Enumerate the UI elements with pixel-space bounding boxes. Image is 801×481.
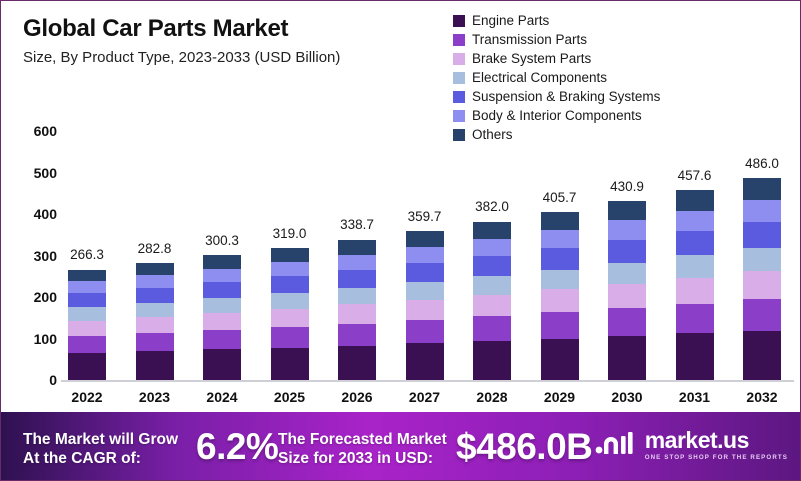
- bar-segment[interactable]: [608, 263, 646, 284]
- stacked-bar[interactable]: [338, 239, 376, 380]
- bar-segment[interactable]: [406, 247, 444, 263]
- chart-plot-area: 0100200300400500600266.32022282.82023300…: [1, 1, 801, 416]
- bar-segment[interactable]: [473, 316, 511, 341]
- x-axis-tick-label: 2027: [390, 389, 460, 405]
- bar-segment[interactable]: [271, 348, 309, 380]
- bar-value-label: 282.8: [120, 241, 190, 256]
- bar-segment[interactable]: [676, 255, 714, 277]
- bar-segment[interactable]: [743, 248, 781, 272]
- bar-segment[interactable]: [406, 231, 444, 247]
- bar-segment[interactable]: [676, 333, 714, 380]
- bar-value-label: 457.6: [660, 168, 730, 183]
- bar-segment[interactable]: [541, 289, 579, 312]
- forecast-caption-line2: Size for 2033 in USD:: [278, 449, 447, 468]
- chart-infographic: Global Car Parts Market Size, By Product…: [0, 0, 801, 481]
- bar-value-label: 338.7: [322, 217, 392, 232]
- bar-segment[interactable]: [743, 271, 781, 299]
- stacked-bar[interactable]: [473, 221, 511, 380]
- bar-segment[interactable]: [338, 304, 376, 323]
- logo-mark-icon: [595, 430, 637, 461]
- logo-name: market.us: [645, 429, 788, 452]
- bar-segment[interactable]: [271, 248, 309, 262]
- bar-segment[interactable]: [676, 190, 714, 210]
- x-axis-tick-label: 2022: [52, 389, 122, 405]
- stacked-bar[interactable]: [203, 255, 241, 380]
- y-axis-tick-label: 200: [11, 289, 57, 305]
- bar-value-label: 382.0: [457, 199, 527, 214]
- bar-value-label: 405.7: [525, 190, 595, 205]
- bar-segment[interactable]: [136, 351, 174, 380]
- bar-segment[interactable]: [541, 248, 579, 269]
- bar-segment[interactable]: [271, 309, 309, 327]
- y-axis-tick-label: 500: [11, 165, 57, 181]
- x-axis-tick-label: 2024: [187, 389, 257, 405]
- bar-segment[interactable]: [743, 299, 781, 331]
- bar-segment[interactable]: [68, 307, 106, 320]
- bar-segment[interactable]: [473, 256, 511, 276]
- bar-value-label: 300.3: [187, 233, 257, 248]
- bar-segment[interactable]: [203, 269, 241, 282]
- bar-segment[interactable]: [136, 317, 174, 333]
- bar-segment[interactable]: [338, 240, 376, 255]
- bar-segment[interactable]: [473, 239, 511, 256]
- stacked-bar[interactable]: [271, 248, 309, 380]
- bar-segment[interactable]: [338, 270, 376, 288]
- bar-segment[interactable]: [68, 321, 106, 336]
- bar-segment[interactable]: [743, 178, 781, 200]
- logo-tagline: ONE STOP SHOP FOR THE REPORTS: [645, 454, 788, 461]
- bar-segment[interactable]: [68, 270, 106, 282]
- bar-segment[interactable]: [203, 313, 241, 330]
- bar-segment[interactable]: [68, 281, 106, 293]
- stacked-bar[interactable]: [743, 178, 781, 380]
- bar-segment[interactable]: [338, 346, 376, 380]
- bar-segment[interactable]: [136, 275, 174, 288]
- bar-segment[interactable]: [136, 263, 174, 276]
- bar-segment[interactable]: [473, 222, 511, 239]
- bar-value-label: 266.3: [52, 247, 122, 262]
- stacked-bar[interactable]: [136, 263, 174, 380]
- bar-segment[interactable]: [406, 282, 444, 300]
- market-us-logo[interactable]: market.us ONE STOP SHOP FOR THE REPORTS: [595, 429, 788, 461]
- bar-segment[interactable]: [338, 255, 376, 270]
- stacked-bar[interactable]: [406, 231, 444, 380]
- bar-segment[interactable]: [541, 339, 579, 380]
- bar-segment[interactable]: [608, 308, 646, 336]
- x-axis-tick-label: 2031: [660, 389, 730, 405]
- bar-segment[interactable]: [406, 320, 444, 343]
- bar-segment[interactable]: [608, 201, 646, 220]
- bar-segment[interactable]: [203, 349, 241, 380]
- bar-segment[interactable]: [473, 276, 511, 295]
- bar-segment[interactable]: [473, 295, 511, 317]
- x-axis-line: [61, 380, 794, 382]
- bar-segment[interactable]: [676, 211, 714, 232]
- bar-segment[interactable]: [68, 293, 106, 307]
- x-axis-tick-label: 2029: [525, 389, 595, 405]
- bar-segment[interactable]: [271, 293, 309, 309]
- x-axis-tick-label: 2028: [457, 389, 527, 405]
- bar-segment[interactable]: [338, 288, 376, 305]
- bar-segment[interactable]: [541, 270, 579, 290]
- bar-segment[interactable]: [68, 353, 106, 380]
- bar-segment[interactable]: [338, 324, 376, 346]
- bar-value-label: 319.0: [255, 226, 325, 241]
- bar-segment[interactable]: [203, 330, 241, 350]
- cagr-caption-line1: The Market will Grow: [23, 430, 178, 449]
- bar-segment[interactable]: [203, 298, 241, 313]
- bottom-summary-banner: The Market will Grow At the CAGR of: 6.2…: [1, 412, 801, 480]
- bar-segment[interactable]: [406, 263, 444, 282]
- cagr-caption-line2: At the CAGR of:: [23, 449, 178, 468]
- bar-segment[interactable]: [743, 200, 781, 222]
- y-axis-tick-label: 300: [11, 248, 57, 264]
- bar-segment[interactable]: [271, 276, 309, 293]
- bar-segment[interactable]: [136, 303, 174, 317]
- y-axis-tick-label: 400: [11, 206, 57, 222]
- y-axis-tick-label: 100: [11, 331, 57, 347]
- forecast-caption-line1: The Forecasted Market: [278, 430, 447, 449]
- bar-segment[interactable]: [743, 222, 781, 248]
- x-axis-tick-label: 2030: [592, 389, 662, 405]
- x-axis-tick-label: 2025: [255, 389, 325, 405]
- bar-segment[interactable]: [406, 300, 444, 320]
- x-axis-tick-label: 2032: [727, 389, 797, 405]
- x-axis-tick-label: 2023: [120, 389, 190, 405]
- bar-segment[interactable]: [473, 341, 511, 380]
- bar-segment[interactable]: [608, 284, 646, 308]
- bar-segment[interactable]: [676, 304, 714, 334]
- x-axis-tick-label: 2026: [322, 389, 392, 405]
- bar-segment[interactable]: [406, 343, 444, 380]
- bar-segment[interactable]: [676, 231, 714, 255]
- bar-value-label: 359.7: [390, 209, 460, 224]
- bar-segment[interactable]: [743, 331, 781, 380]
- bar-segment[interactable]: [271, 262, 309, 276]
- bar-segment[interactable]: [136, 288, 174, 303]
- bar-segment[interactable]: [541, 230, 579, 248]
- bar-segment[interactable]: [541, 312, 579, 338]
- cagr-value: 6.2%: [196, 428, 278, 465]
- bar-segment[interactable]: [541, 212, 579, 230]
- bar-segment[interactable]: [136, 333, 174, 351]
- stacked-bar[interactable]: [68, 270, 106, 381]
- stacked-bar[interactable]: [541, 212, 579, 380]
- bar-segment[interactable]: [68, 336, 106, 353]
- bar-value-label: 430.9: [592, 179, 662, 194]
- stacked-bar[interactable]: [608, 201, 646, 380]
- bar-segment[interactable]: [203, 255, 241, 268]
- bar-segment[interactable]: [271, 327, 309, 348]
- bar-segment[interactable]: [608, 336, 646, 380]
- bar-segment[interactable]: [203, 282, 241, 298]
- bar-value-label: 486.0: [727, 156, 797, 171]
- stacked-bar[interactable]: [676, 190, 714, 380]
- forecast-value: $486.0B: [456, 428, 592, 465]
- bar-segment[interactable]: [608, 220, 646, 239]
- bar-segment[interactable]: [676, 278, 714, 304]
- y-axis-tick-label: 600: [11, 123, 57, 139]
- y-axis-tick-label: 0: [11, 372, 57, 388]
- bar-segment[interactable]: [608, 240, 646, 263]
